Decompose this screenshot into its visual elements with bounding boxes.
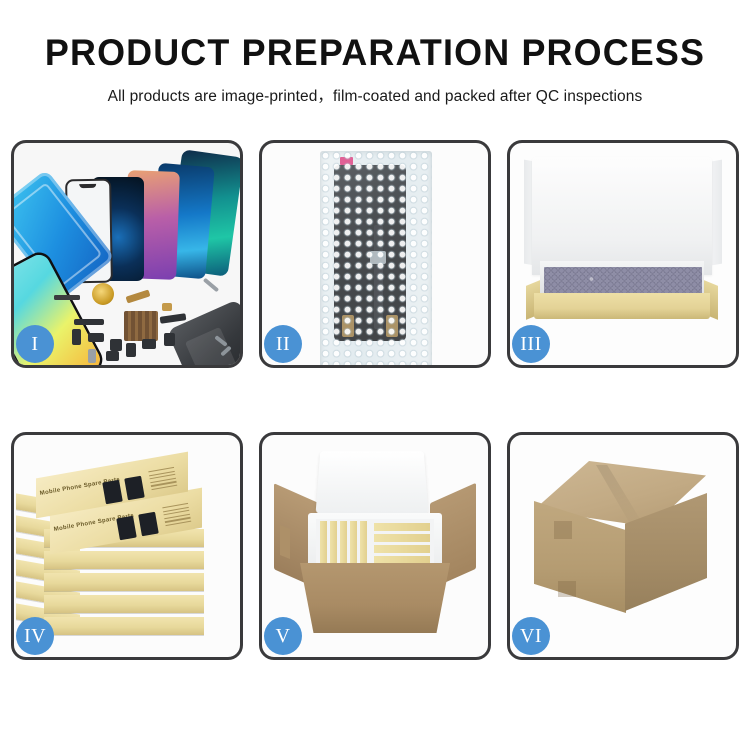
product-preparation-page: PRODUCT PREPARATION PROCESS All products… — [0, 0, 750, 750]
carton-body — [300, 563, 450, 633]
retail-box — [44, 551, 204, 569]
small-part — [164, 333, 175, 346]
small-part — [106, 351, 119, 361]
small-part — [126, 343, 136, 357]
step-badge-4: IV — [16, 617, 54, 655]
speaker-coil-part — [92, 283, 114, 305]
box-screen-graphic — [102, 480, 123, 505]
small-part — [88, 333, 104, 342]
gold-box-edge — [340, 521, 347, 567]
step-panel-sealed-shipping-carton: VI — [507, 432, 739, 660]
box-lid-white — [532, 157, 712, 275]
step-numeral: II — [276, 334, 290, 354]
step-numeral: VI — [520, 626, 542, 646]
box-front-panel — [534, 293, 710, 319]
retail-box — [44, 573, 204, 591]
carton-tab-upper — [554, 521, 572, 539]
small-part — [162, 303, 172, 311]
small-part — [142, 339, 156, 349]
gold-box-flat — [374, 523, 430, 531]
step-panel-carton-with-foam-liner: V — [259, 432, 491, 660]
step-image-foam-lined-box: III — [510, 143, 736, 365]
box-screen-graphic — [116, 516, 137, 541]
small-part — [160, 313, 187, 324]
step-numeral: IV — [24, 626, 46, 646]
step-badge-2: II — [264, 325, 302, 363]
box-screen-graphic — [138, 512, 159, 537]
step-image-sealed-shipping-carton: VI — [510, 435, 736, 657]
step-image-bubble-wrapped-screen: II — [262, 143, 488, 365]
gold-box-flat — [374, 545, 430, 553]
small-part — [126, 289, 151, 303]
carton-tab-lower — [558, 581, 576, 597]
gold-box-flat — [374, 556, 430, 564]
page-header: PRODUCT PREPARATION PROCESS All products… — [0, 0, 750, 106]
step-image-carton-with-foam-liner: V — [262, 435, 488, 657]
process-steps-grid: I II — [11, 140, 739, 660]
phone-backplate — [167, 299, 240, 365]
chip-grid-part — [124, 311, 158, 341]
gold-box-edge — [330, 521, 337, 567]
small-part — [110, 339, 122, 351]
bubble-texture — [320, 151, 432, 365]
page-title: PRODUCT PREPARATION PROCESS — [11, 34, 739, 73]
gold-box-edge — [360, 521, 367, 567]
small-part — [74, 319, 104, 325]
step-numeral: III — [520, 334, 541, 354]
step-badge-1: I — [16, 325, 54, 363]
step-image-products-and-parts: I — [14, 143, 240, 365]
carton-flap-fold — [280, 525, 290, 559]
step-panel-bubble-wrapped-screen: II — [259, 140, 491, 368]
step-image-stacked-retail-boxes: Mobile Phone Spare Parts Mobile Phone Sp… — [14, 435, 240, 657]
gold-box-edge — [350, 521, 357, 567]
foam-lid-open — [316, 451, 429, 513]
small-part — [54, 295, 80, 300]
box-spec-lines — [148, 467, 177, 493]
gold-box-flat — [374, 534, 430, 542]
box-screen-graphic — [124, 476, 145, 501]
retail-box — [44, 617, 204, 635]
step-numeral: V — [276, 626, 291, 646]
small-part — [88, 349, 96, 363]
step-panel-products-and-parts: I — [11, 140, 243, 368]
step-badge-6: VI — [512, 617, 550, 655]
retail-box — [44, 595, 204, 613]
step-numeral: I — [31, 334, 38, 354]
step-badge-3: III — [512, 325, 550, 363]
small-part — [72, 329, 81, 345]
gold-box-edge — [320, 521, 327, 567]
step-panel-foam-lined-box: III — [507, 140, 739, 368]
page-subtitle: All products are image-printed，film-coat… — [0, 84, 750, 106]
small-part — [203, 278, 219, 293]
step-badge-5: V — [264, 617, 302, 655]
step-panel-stacked-retail-boxes: Mobile Phone Spare Parts Mobile Phone Sp… — [11, 432, 243, 660]
box-spec-lines — [162, 503, 191, 529]
bubble-wrap-bag — [320, 151, 432, 365]
